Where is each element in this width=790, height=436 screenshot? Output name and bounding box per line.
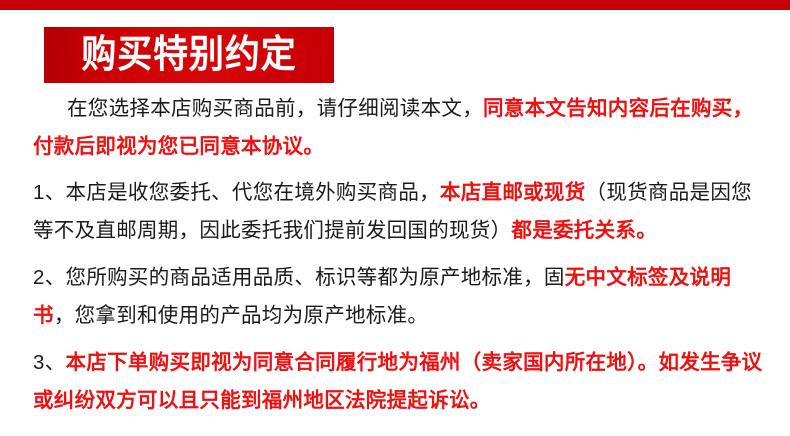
page-title: 购买特别约定 [81, 36, 296, 74]
clause-1: 1、本店是收您委托、代您在境外购买商品，本店直邮或现货（现货商品是因您等不及直邮… [33, 174, 765, 250]
clause-1-highlight-1: 本店直邮或现货 [440, 181, 586, 204]
clause-2-segment-1: 您所购买的商品适用品质、标识等都为原产地标准，固 [66, 266, 565, 289]
clause-2-number: 2、 [33, 266, 66, 289]
clause-3-number: 3、 [33, 351, 66, 374]
intro-line1-black: 在您选择本店购买商品前，请仔细阅读本文， [67, 97, 483, 120]
page-title-banner: 购买特别约定 [44, 27, 334, 83]
top-accent-bar [0, 0, 790, 10]
clause-1-segment-1: 本店是收您委托、代您在境外购买商品， [66, 181, 440, 204]
intro-line1-red: 同意本文告知内容后在 [483, 97, 691, 120]
clause-1-number: 1、 [33, 181, 66, 204]
clause-1-highlight-2: 都是委托关系。 [511, 219, 657, 242]
clause-2: 2、您所购买的商品适用品质、标识等都为原产地标准，固无中文标签及说明书，您拿到和… [33, 259, 765, 335]
purchase-agreement-page: 购买特别约定 在您选择本店购买商品前，请仔细阅读本文，同意本文告知内容后在购买，… [0, 0, 790, 436]
clause-3-highlight-1: 本店下单购买即视为同意合同履行地为福州（卖家国内所在地）。如发生争议或纠纷双方可… [33, 351, 762, 412]
clause-2-segment-2: ，您拿到和使用的产品均为原产地标准。 [54, 304, 428, 327]
intro-paragraph: 在您选择本店购买商品前，请仔细阅读本文，同意本文告知内容后在购买，付款后即视为您… [33, 90, 765, 166]
clause-3: 3、本店下单购买即视为同意合同履行地为福州（卖家国内所在地）。如发生争议或纠纷双… [33, 344, 765, 420]
